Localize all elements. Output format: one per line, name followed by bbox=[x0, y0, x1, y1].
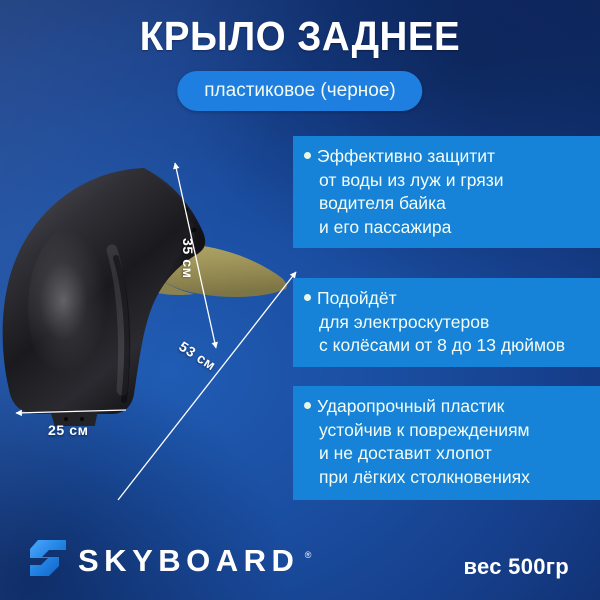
feature-line: для электроскутеров bbox=[302, 311, 590, 335]
feature-line: от воды из луж и грязи bbox=[302, 169, 590, 193]
dimension-label-height: 35 см bbox=[180, 238, 196, 279]
feature-panel-protection: Эффективно защитит от воды из луж и гряз… bbox=[293, 136, 600, 248]
feature-line: водителя байка bbox=[302, 192, 590, 216]
feature-line: Подойдёт bbox=[302, 287, 590, 311]
feature-line: с колёсами от 8 до 13 дюймов bbox=[302, 334, 590, 358]
feature-line: устойчив к повреждениям bbox=[302, 419, 590, 443]
product-image bbox=[0, 158, 294, 426]
mount-hole-right bbox=[80, 417, 84, 421]
feature-text: Подойдёт bbox=[317, 288, 397, 308]
product-infographic: КРЫЛО ЗАДНЕЕ пластиковое (черное) bbox=[0, 0, 600, 600]
bracket-hole-bottom bbox=[192, 228, 197, 233]
skyboard-s-mark-icon bbox=[30, 538, 66, 583]
footer: SKYBOARD ® вес 500гр bbox=[0, 520, 600, 600]
bullet-dot-icon bbox=[304, 152, 311, 159]
fender-illustration bbox=[0, 158, 294, 426]
feature-panel-durability: Ударопрочный пластик устойчив к поврежде… bbox=[293, 386, 600, 500]
brand-name: SKYBOARD bbox=[78, 543, 299, 578]
brand-logo: SKYBOARD ® bbox=[30, 538, 299, 583]
feature-text: Ударопрочный пластик bbox=[317, 396, 504, 416]
feature-line: и его пассажира bbox=[302, 216, 590, 240]
feature-text: Эффективно защитит bbox=[317, 146, 495, 166]
feature-panel-compatibility: Подойдёт для электроскутеров с колёсами … bbox=[293, 278, 600, 367]
page-title: КРЫЛО ЗАДНЕЕ bbox=[18, 12, 582, 61]
bracket-hole-top bbox=[184, 208, 189, 213]
feature-line: и не доставит хлопот bbox=[302, 442, 590, 466]
mount-hole-left bbox=[64, 417, 68, 421]
feature-line: Ударопрочный пластик bbox=[302, 395, 590, 419]
feature-line: при лёгких столкновениях bbox=[302, 466, 590, 490]
dimension-label-width: 25 см bbox=[48, 422, 89, 438]
bullet-dot-icon bbox=[304, 294, 311, 301]
brand-wordmark: SKYBOARD ® bbox=[78, 545, 299, 576]
feature-line: Эффективно защитит bbox=[302, 145, 590, 169]
bullet-dot-icon bbox=[304, 402, 311, 409]
material-badge: пластиковое (черное) bbox=[177, 71, 422, 111]
registered-trademark-icon: ® bbox=[305, 540, 312, 571]
weight-label: вес 500гр bbox=[463, 556, 569, 578]
